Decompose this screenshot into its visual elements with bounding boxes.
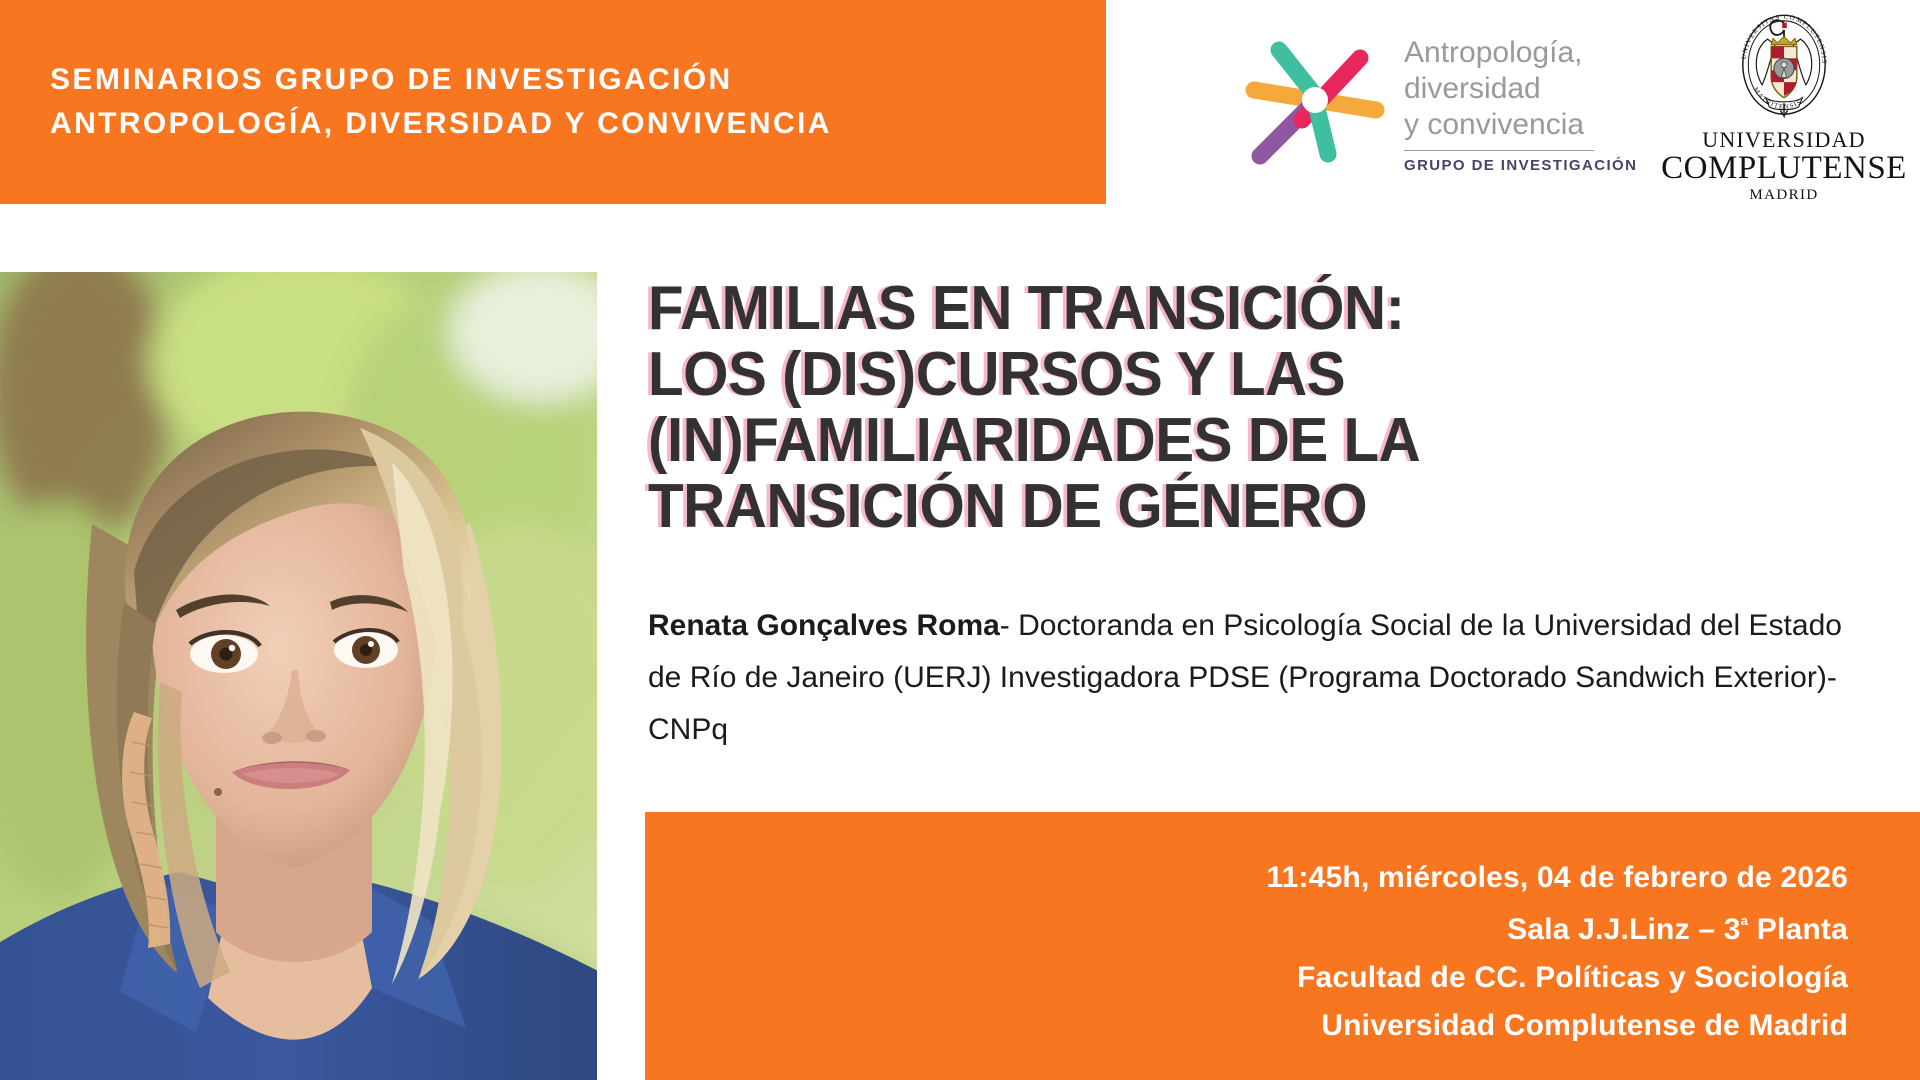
speaker-description: Renata Gonçalves Roma- Doctoranda en Psi… [648, 600, 1858, 756]
adc-logo-line-2: diversidad [1404, 71, 1637, 107]
event-details: 11:45h, miércoles, 04 de febrero de 2026… [748, 854, 1848, 1050]
adc-logo-divider [1404, 150, 1594, 151]
adc-logo-line-1: Antropología, [1404, 35, 1637, 71]
header-seminar-title: SEMINARIOS GRUPO DE INVESTIGACIÓN ANTROP… [50, 58, 1060, 146]
event-room-pre: Sala J.J.Linz – 3 [1507, 913, 1741, 946]
event-university: Universidad Complutense de Madrid [748, 1002, 1848, 1050]
adc-logo-subtitle: GRUPO DE INVESTIGACIÓN [1404, 157, 1637, 174]
ucm-logo-line-3: MADRID [1749, 186, 1818, 204]
event-faculty: Facultad de CC. Políticas y Sociología [748, 954, 1848, 1002]
ucm-logo-line-2: COMPLUTENSE [1661, 151, 1907, 185]
adc-logo-wordmark: Antropología, diversidad y convivencia G… [1404, 33, 1637, 174]
page-title: FAMILIAS EN TRANSICIÓN: LOS (DIS)CURSOS … [648, 276, 1823, 540]
poster-root: SEMINARIOS GRUPO DE INVESTIGACIÓN ANTROP… [0, 0, 1920, 1080]
header-orange-band: SEMINARIOS GRUPO DE INVESTIGACIÓN ANTROP… [0, 0, 1106, 204]
ucm-crest-icon: UNIVERSITAS COMPLUTENSIS MATRITENSIS [1726, 8, 1842, 127]
event-room-post: Planta [1748, 913, 1848, 946]
ucm-logo-line-1: UNIVERSIDAD [1702, 129, 1866, 151]
event-datetime: 11:45h, miércoles, 04 de febrero de 2026 [748, 854, 1848, 902]
adc-research-group-logo: Antropología, diversidad y convivencia G… [1240, 18, 1640, 188]
event-room: Sala J.J.Linz – 3ª Planta [748, 902, 1848, 954]
footer-orange-band: 11:45h, miércoles, 04 de febrero de 2026… [645, 812, 1920, 1080]
speaker-name: Renata Gonçalves Roma [648, 609, 1000, 642]
adc-logo-line-3: y convivencia [1404, 107, 1637, 143]
speaker-portrait-photo [0, 272, 597, 1080]
ucm-logo: UNIVERSITAS COMPLUTENSIS MATRITENSIS UNI… [1672, 8, 1896, 204]
asterisk-star-logo-icon [1240, 28, 1390, 178]
